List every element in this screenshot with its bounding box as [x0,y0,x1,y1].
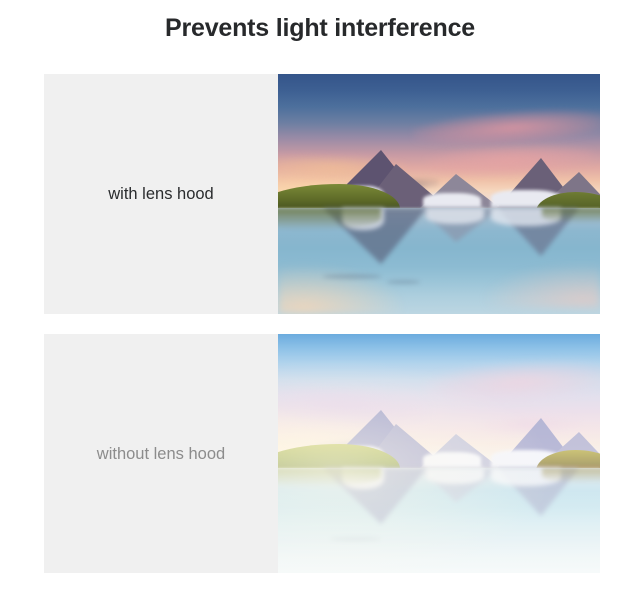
label-pane-with-lens-hood: with lens hood [44,74,278,314]
warm-light-reflection [484,263,600,307]
snow-reflection [426,208,484,224]
snow-reflection [426,468,484,484]
lake-water [278,208,600,314]
comparison-row-with-lens-hood: with lens hood [44,74,600,314]
comparison-row-without-lens-hood: without lens hood [44,334,600,573]
label-without-lens-hood: without lens hood [97,443,225,465]
photo-pane-with-lens-hood [278,74,600,314]
water-ripple [330,537,382,541]
warm-light-reflection [278,263,407,314]
photo-pane-without-lens-hood [278,334,600,573]
label-with-lens-hood: with lens hood [108,183,214,205]
lake-water [278,468,600,573]
hill-reflection [542,468,600,483]
page-title: Prevents light interference [0,12,640,44]
photo-with-lens-hood [278,74,600,314]
label-pane-without-lens-hood: without lens hood [44,334,278,573]
photo-without-lens-hood [278,334,600,573]
